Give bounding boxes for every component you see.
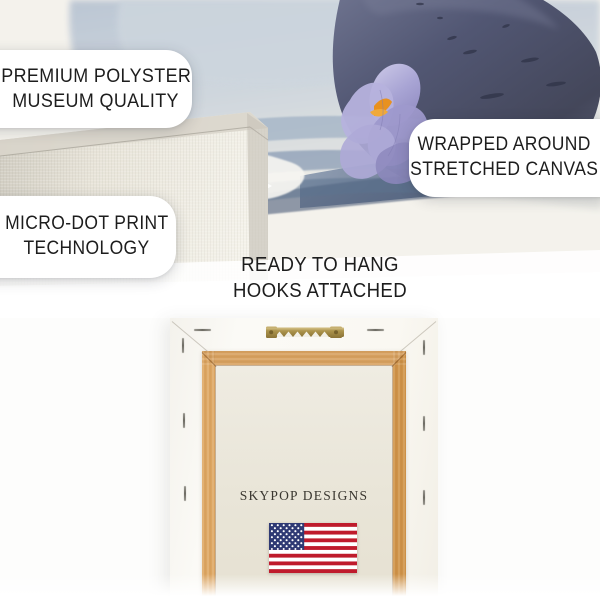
callout-line-1: PREMIUM POLYSTER: [1, 64, 191, 89]
callout-micro-dot-print: MICRO-DOT PRINT TECHNOLOGY: [0, 196, 176, 278]
ready-heading-line-1: READY TO HANG: [199, 252, 441, 278]
staple-right-1: [423, 340, 425, 355]
brand-label: SKYPOP DESIGNS: [170, 488, 438, 504]
staple-top-left: [194, 329, 211, 331]
sawtooth-hanger-icon: [266, 325, 344, 340]
us-flag-icon: [269, 523, 357, 573]
callout-line-1: MICRO-DOT PRINT: [5, 212, 168, 237]
callout-wrapped-around: WRAPPED AROUND STRETCHED CANVAS: [409, 119, 600, 197]
callout-line-2: STRETCHED CANVAS: [410, 158, 598, 183]
ready-heading-line-2: HOOKS ATTACHED: [199, 278, 441, 304]
callout-line-2: TECHNOLOGY: [24, 237, 150, 262]
staple-top-right: [367, 329, 384, 331]
callout-line-2: MUSEUM QUALITY: [13, 89, 180, 114]
product-feature-graphic: PREMIUM POLYSTER MUSEUM QUALITY WRAPPED …: [0, 0, 600, 600]
callout-line-1: WRAPPED AROUND: [418, 133, 591, 158]
ready-to-hang-heading: READY TO HANG HOOKS ATTACHED: [190, 252, 450, 305]
staple-left-1: [182, 338, 184, 353]
staple-right-2: [423, 416, 425, 431]
staple-left-2: [183, 413, 185, 428]
callout-premium-polyster: PREMIUM POLYSTER MUSEUM QUALITY: [0, 50, 192, 128]
canvas-back-view: SKYPOP DESIGNS: [170, 318, 438, 600]
